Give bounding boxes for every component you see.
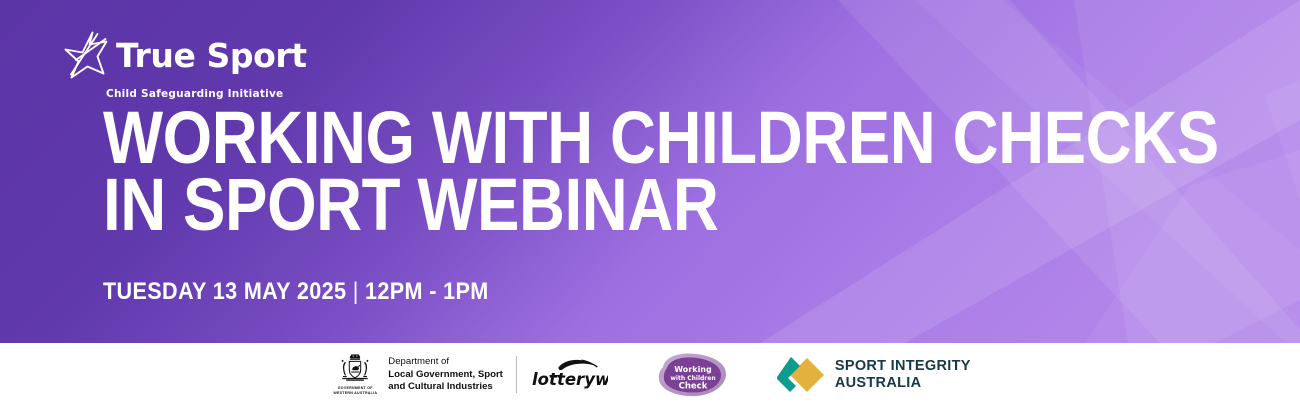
- department-name: Department of Local Government, Sport an…: [388, 353, 503, 394]
- working-with-children-check-badge-icon: Working with Children Check: [650, 350, 736, 400]
- svg-text:with Children: with Children: [670, 375, 715, 382]
- sport-integrity-australia-wordmark: SPORT INTEGRITY AUSTRALIA: [835, 358, 971, 391]
- sia-line-1: SPORT INTEGRITY: [835, 358, 971, 375]
- sport-integrity-australia-mark-icon: [776, 355, 826, 395]
- logo-wordmark: True Sport: [116, 39, 307, 72]
- svg-text:Working: Working: [674, 365, 712, 374]
- crest-caption-line-2: WESTERN AUSTRALIA: [333, 391, 377, 396]
- partner-lotterywest[interactable]: lotterywest: [530, 357, 608, 393]
- hero-banner: True Sport Child Safeguarding Initiative…: [0, 0, 1300, 343]
- crest-caption: GOVERNMENT OF WESTERN AUSTRALIA: [333, 386, 377, 396]
- lotterywest-logo-icon: lotterywest: [530, 357, 608, 393]
- headline-line-2: IN SPORT WEBINAR: [103, 171, 1219, 238]
- page-title: WORKING WITH CHILDREN CHECKS IN SPORT WE…: [103, 104, 1300, 239]
- department-line-1: Department of: [388, 356, 503, 369]
- true-sport-logo[interactable]: True Sport Child Safeguarding Initiative: [62, 29, 322, 100]
- svg-text:Check: Check: [679, 381, 708, 391]
- event-datetime: TUESDAY 13 MAY 2025|12PM - 1PM: [103, 278, 489, 306]
- partner-logo-bar: GOVERNMENT OF WESTERN AUSTRALIA Departme…: [0, 343, 1300, 406]
- event-time: 12PM - 1PM: [365, 278, 489, 305]
- partner-wa-government[interactable]: GOVERNMENT OF WESTERN AUSTRALIA Departme…: [329, 353, 503, 396]
- partner-wwcc[interactable]: Working with Children Check: [650, 350, 736, 400]
- department-line-2: Local Government, Sport: [388, 369, 503, 382]
- event-date: TUESDAY 13 MAY 2025: [103, 278, 346, 305]
- logo-divider: [516, 356, 517, 393]
- partner-list: GOVERNMENT OF WESTERN AUSTRALIA Departme…: [329, 350, 970, 400]
- wa-crest: GOVERNMENT OF WESTERN AUSTRALIA: [329, 353, 381, 396]
- wa-state-crest-icon: [336, 353, 374, 385]
- headline-line-1: WORKING WITH CHILDREN CHECKS: [103, 104, 1219, 171]
- svg-text:lotterywest: lotterywest: [532, 370, 608, 389]
- logo-row: True Sport: [62, 29, 322, 81]
- event-separator: |: [346, 278, 365, 305]
- sia-line-2: AUSTRALIA: [835, 375, 971, 392]
- department-line-3: and Cultural Industries: [388, 381, 503, 394]
- partner-sport-integrity-australia[interactable]: SPORT INTEGRITY AUSTRALIA: [776, 355, 971, 395]
- star-outline-icon: [62, 30, 108, 80]
